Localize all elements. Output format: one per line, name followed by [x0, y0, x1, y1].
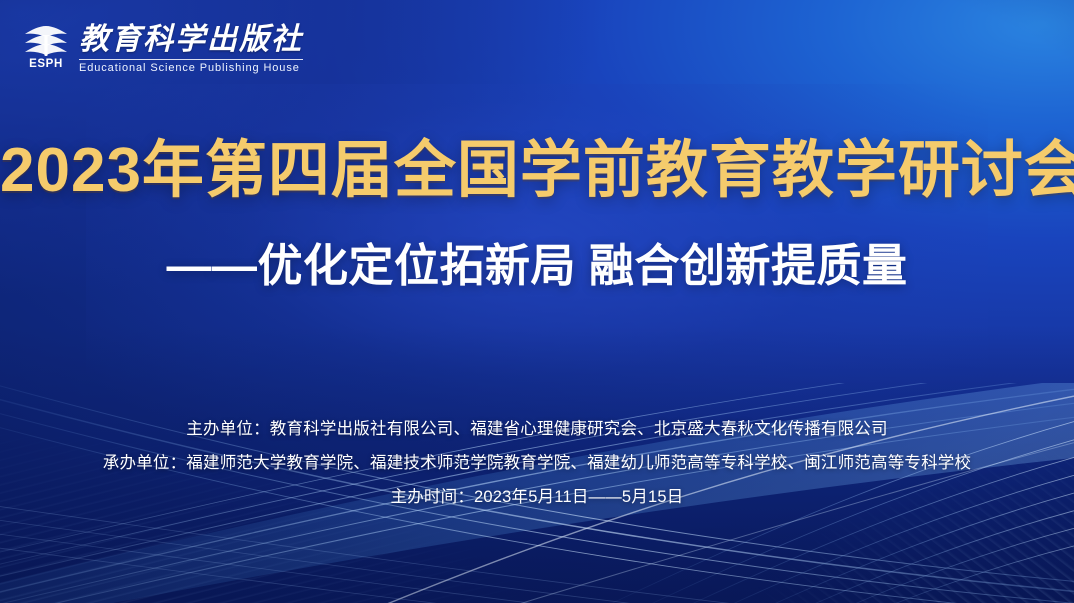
- open-book-chevron-icon: [23, 23, 69, 57]
- logo-text: 教育科学出版社 Educational Science Publishing H…: [79, 23, 303, 74]
- info-line-co-organizers: 承办单位：福建师范大学教育学院、福建技术师范学院教育学院、福建幼儿师范高等专科学…: [0, 446, 1074, 480]
- subtitle: ——优化定位拓新局 融合创新提质量: [0, 243, 1074, 288]
- logo-name-en: Educational Science Publishing House: [79, 63, 303, 74]
- logo-divider: [79, 59, 303, 60]
- info-line-dates: 主办时间：2023年5月11日——5月15日: [0, 480, 1074, 514]
- event-info: 主办单位：教育科学出版社有限公司、福建省心理健康研究会、北京盛大春秋文化传播有限…: [0, 412, 1074, 514]
- publisher-logo: ESPH 教育科学出版社 Educational Science Publish…: [22, 23, 303, 74]
- logo-name-cn: 教育科学出版社: [79, 24, 303, 56]
- logo-mark: ESPH: [22, 23, 70, 71]
- main-title: 2023年第四届全国学前教育教学研讨会: [0, 140, 1074, 202]
- info-line-organizers: 主办单位：教育科学出版社有限公司、福建省心理健康研究会、北京盛大春秋文化传播有限…: [0, 412, 1074, 446]
- conference-banner: ESPH 教育科学出版社 Educational Science Publish…: [0, 0, 1074, 603]
- logo-abbreviation: ESPH: [29, 59, 63, 71]
